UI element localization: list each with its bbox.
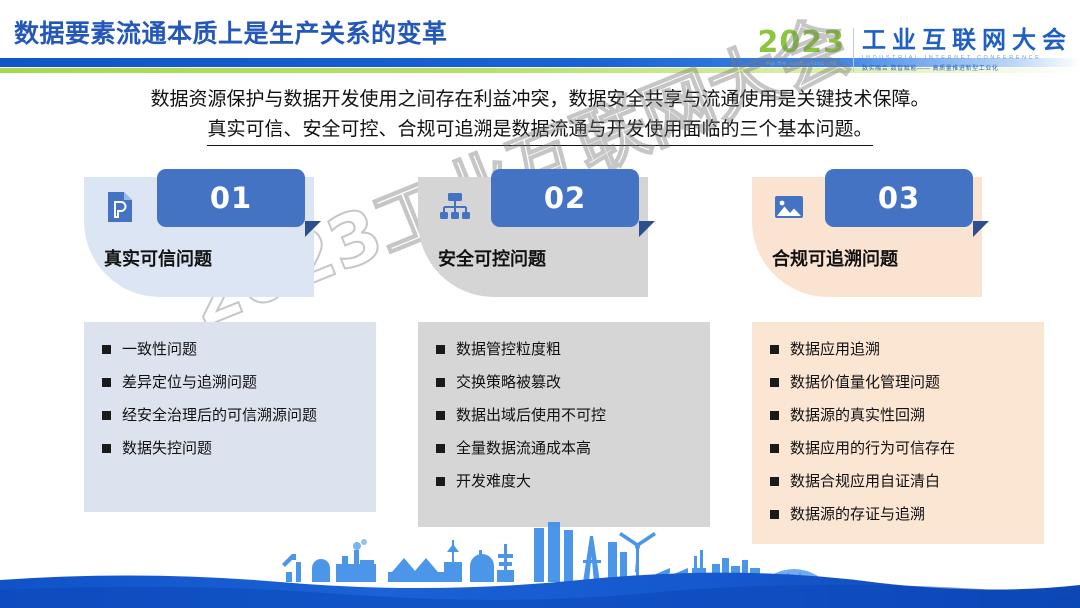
bullet-square-icon — [102, 345, 111, 354]
card-02-body: 数据管控粒度粗 交换策略被篡改 数据出域后使用不可控 全量数据流通成本高 开发难… — [418, 322, 710, 527]
list-item-label: 差异定位与追溯问题 — [122, 373, 257, 392]
list-item: 全量数据流通成本高 — [436, 439, 696, 458]
bullet-square-icon — [102, 411, 111, 420]
list-item: 数据管控粒度粗 — [436, 340, 696, 359]
list-item: 一致性问题 — [102, 340, 362, 359]
card-02-tab-fold — [639, 221, 655, 237]
list-item-label: 数据应用追溯 — [790, 340, 880, 359]
logo-title-cn: 工业互联网大会 — [862, 28, 1072, 52]
lead-paragraph: 数据资源保护与数据开发使用之间存在利益冲突，数据安全共享与流通使用是关键技术保障… — [0, 84, 1080, 146]
card-01: 01 真实可信问题 一致性问题 差异定位与追溯问题 经安全治理后的可信溯源问题 … — [84, 177, 376, 297]
card-02-header: 02 安全可控问题 — [418, 177, 648, 297]
card-01-number: 01 — [210, 181, 252, 215]
image-icon — [772, 190, 806, 224]
logo-subtitle-cn: 数实融合 数智赋能—— 高质量推进新型工业化 — [862, 63, 1072, 72]
list-item-label: 经安全治理后的可信溯源问题 — [122, 406, 317, 425]
bullet-square-icon — [102, 444, 111, 453]
lead-line-1: 数据资源保护与数据开发使用之间存在利益冲突，数据安全共享与流通使用是关键技术保障… — [150, 88, 929, 110]
list-item: 数据失控问题 — [102, 439, 362, 458]
list-item-label: 数据管控粒度粗 — [456, 340, 561, 359]
bullet-square-icon — [102, 378, 111, 387]
list-item-label: 数据应用的行为可信存在 — [790, 439, 955, 458]
list-item-label: 开发难度大 — [456, 472, 531, 491]
card-01-tab-fold — [305, 221, 321, 237]
list-item: 开发难度大 — [436, 472, 696, 491]
card-01-header: 01 真实可信问题 — [84, 177, 314, 297]
list-item-label: 数据价值量化管理问题 — [790, 373, 940, 392]
list-item: 数据出域后使用不可控 — [436, 406, 696, 425]
card-03-number-tab: 03 — [825, 169, 973, 227]
card-02-number-tab: 02 — [491, 169, 639, 227]
bullet-square-icon — [770, 411, 779, 420]
footer-decoration — [0, 520, 1080, 608]
logo-date: 中国·苏州 2023年11月10日-12日 — [766, 61, 837, 67]
list-item-label: 交换策略被篡改 — [456, 373, 561, 392]
card-02: 02 安全可控问题 数据管控粒度粗 交换策略被篡改 数据出域后使用不可控 全量数… — [418, 177, 710, 297]
list-item-label: 数据失控问题 — [122, 439, 212, 458]
card-03-number: 03 — [878, 181, 920, 215]
card-02-number: 02 — [544, 181, 586, 215]
list-item-label: 一致性问题 — [122, 340, 197, 359]
list-item: 经安全治理后的可信溯源问题 — [102, 406, 362, 425]
wave-band — [0, 570, 1080, 608]
list-item: 交换策略被篡改 — [436, 373, 696, 392]
bullet-square-icon — [770, 444, 779, 453]
slide-canvas: 数据要素流通本质上是生产关系的变革 2023 中国·苏州 2023年11月10日… — [0, 0, 1080, 608]
bullet-square-icon — [436, 411, 445, 420]
bullet-square-icon — [436, 345, 445, 354]
card-03-header: 03 合规可追溯问题 — [752, 177, 982, 297]
card-03-body: 数据应用追溯 数据价值量化管理问题 数据源的真实性回溯 数据应用的行为可信存在 … — [752, 322, 1044, 544]
bullet-square-icon — [436, 444, 445, 453]
hierarchy-icon — [438, 190, 472, 224]
bullet-square-icon — [770, 510, 779, 519]
card-03-tab-fold — [973, 221, 989, 237]
bullet-square-icon — [436, 477, 445, 486]
list-item: 数据应用追溯 — [770, 340, 1030, 359]
bullet-square-icon — [770, 477, 779, 486]
list-item: 数据应用的行为可信存在 — [770, 439, 1030, 458]
list-item: 数据合规应用自证清白 — [770, 472, 1030, 491]
logo-year: 2023 — [758, 28, 846, 58]
list-item-label: 全量数据流通成本高 — [456, 439, 591, 458]
card-01-title: 真实可信问题 — [104, 245, 212, 271]
list-item: 差异定位与追溯问题 — [102, 373, 362, 392]
page-title: 数据要素流通本质上是生产关系的变革 — [14, 14, 448, 50]
card-03-title: 合规可追溯问题 — [772, 245, 898, 271]
list-item-label: 数据源的真实性回溯 — [790, 406, 925, 425]
card-03: 03 合规可追溯问题 数据应用追溯 数据价值量化管理问题 数据源的真实性回溯 数… — [752, 177, 1044, 297]
bullet-square-icon — [436, 378, 445, 387]
logo-year-block: 2023 中国·苏州 2023年11月10日-12日 — [758, 28, 854, 67]
list-item: 数据源的真实性回溯 — [770, 406, 1030, 425]
list-item-label: 数据出域后使用不可控 — [456, 406, 606, 425]
logo-title-en: INDUSTRIAL INTERNET CONFERENCE — [862, 55, 1072, 61]
card-01-number-tab: 01 — [157, 169, 305, 227]
lead-line-2: 真实可信、安全可控、合规可追溯是数据流通与开发使用面临的三个基本问题。 — [207, 114, 872, 146]
card-01-body: 一致性问题 差异定位与追溯问题 经安全治理后的可信溯源问题 数据失控问题 — [84, 322, 376, 512]
bullet-square-icon — [770, 345, 779, 354]
list-item: 数据价值量化管理问题 — [770, 373, 1030, 392]
list-item-label: 数据合规应用自证清白 — [790, 472, 940, 491]
card-02-title: 安全可控问题 — [438, 245, 546, 271]
logo-divider — [853, 28, 854, 72]
bullet-square-icon — [770, 378, 779, 387]
logo-text-block: 工业互联网大会 INDUSTRIAL INTERNET CONFERENCE 数… — [862, 28, 1072, 72]
conference-logo: 2023 中国·苏州 2023年11月10日-12日 工业互联网大会 INDUS… — [758, 28, 1073, 72]
ppt-file-icon — [104, 190, 138, 224]
